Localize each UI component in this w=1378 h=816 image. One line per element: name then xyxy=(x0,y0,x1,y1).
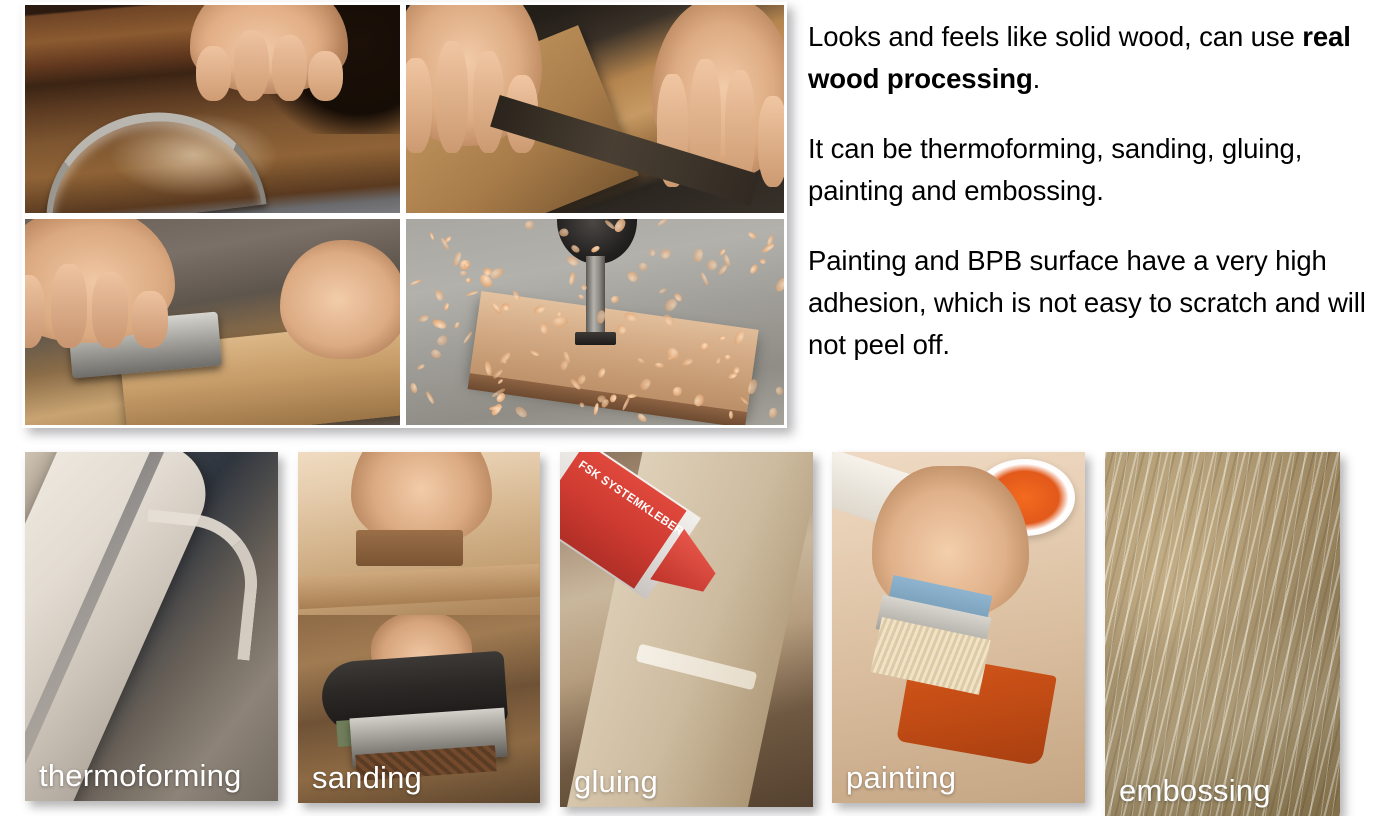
wood-chip xyxy=(454,321,461,329)
wood-chip xyxy=(725,354,731,359)
wood-chip xyxy=(410,279,422,286)
wood-chip xyxy=(673,387,683,396)
wood-chip xyxy=(497,379,504,385)
wood-chips xyxy=(406,219,784,425)
wood-chip xyxy=(610,296,620,305)
wood-chip xyxy=(637,357,646,365)
wood-chip xyxy=(570,244,580,254)
wood-chip xyxy=(729,411,734,420)
wood-chip xyxy=(623,312,638,323)
painting-photo xyxy=(832,452,1085,803)
hand-right-icon xyxy=(652,2,787,180)
wood-chip xyxy=(566,254,580,267)
process-card-embossing[interactable]: embossing xyxy=(1105,452,1340,816)
wood-chip xyxy=(692,248,704,263)
wood-chip xyxy=(717,263,729,275)
wood-chip xyxy=(700,342,710,353)
hand-left-icon xyxy=(22,216,175,343)
wood-chip xyxy=(429,231,435,240)
wood-chip xyxy=(662,312,676,327)
wood-chip xyxy=(657,217,669,227)
wood-chip xyxy=(558,227,569,237)
wood-chip xyxy=(732,330,745,346)
hand-right-icon xyxy=(280,240,403,359)
card-caption-embossing: embossing xyxy=(1119,773,1271,809)
wood-chip xyxy=(608,393,618,403)
wood-chip xyxy=(501,303,511,312)
wood-chip xyxy=(559,360,569,372)
wood-chip xyxy=(612,217,628,234)
wood-chip xyxy=(717,336,725,342)
wood-chip xyxy=(429,348,442,360)
wood-chip xyxy=(759,258,766,265)
wood-chip xyxy=(434,289,444,301)
wood-chip xyxy=(459,270,467,276)
planing-scene xyxy=(25,219,400,425)
paragraph-1: Looks and feels like solid wood, can use… xyxy=(808,16,1374,100)
wood-chip xyxy=(701,272,710,286)
wood-chip xyxy=(715,356,721,364)
wood-chip xyxy=(416,364,425,371)
photo-cell-hand-cutting-board xyxy=(403,2,787,216)
wood-chip xyxy=(465,277,471,283)
feature-text-block: Looks and feels like solid wood, can use… xyxy=(808,16,1374,416)
wood-chip xyxy=(463,331,474,344)
wood-chip xyxy=(591,245,601,254)
sanding-photo-top xyxy=(298,452,540,615)
wood-chip xyxy=(529,349,539,357)
wood-chip xyxy=(533,303,546,314)
hand-icon xyxy=(190,2,348,94)
wood-chip xyxy=(739,395,749,405)
wood-chip xyxy=(431,318,447,331)
wood-chip xyxy=(693,393,706,408)
wood-chip xyxy=(540,323,548,335)
wood-chip xyxy=(658,288,667,295)
wood-chip xyxy=(593,403,600,416)
wood-chip xyxy=(435,334,449,348)
wood-chip xyxy=(638,377,653,392)
wood-chip xyxy=(409,383,417,394)
wood-chip xyxy=(552,316,568,328)
wood-chip xyxy=(749,263,760,275)
wood-chip xyxy=(622,397,632,412)
wood-chip xyxy=(681,358,693,367)
wood-chip xyxy=(580,283,587,291)
wood-chip xyxy=(747,231,757,240)
drilling-scene xyxy=(406,219,784,425)
wood-chip xyxy=(775,386,785,396)
wood-chip xyxy=(596,310,606,324)
gluing-photo: 200 g FSK SYSTEMKLEBER xyxy=(560,452,813,807)
wood-chip xyxy=(485,360,493,375)
wood-chip xyxy=(654,362,664,369)
profile-edge xyxy=(134,509,264,660)
wood-chip xyxy=(746,379,758,395)
sanding-photo xyxy=(298,452,540,803)
circular-saw-scene xyxy=(25,5,400,213)
card-caption-gluing: gluing xyxy=(574,764,658,800)
photo-cell-circular-saw-cutting xyxy=(22,2,403,216)
paragraph-3: Painting and BPB surface have a very hig… xyxy=(808,240,1374,366)
wood-chip xyxy=(769,408,779,419)
paragraph-1-lead: Looks and feels like solid wood, can use xyxy=(808,21,1302,52)
wood-chip xyxy=(773,276,787,293)
embossing-photo xyxy=(1105,452,1340,816)
wood-chip xyxy=(568,271,576,285)
wood-chip xyxy=(514,404,529,419)
process-card-sanding[interactable]: sanding xyxy=(298,452,540,803)
wood-chip xyxy=(443,303,450,312)
wood-chip xyxy=(626,269,640,283)
wood-chip xyxy=(705,258,719,272)
wood-chip xyxy=(425,390,436,405)
wood-chip xyxy=(463,263,469,268)
wood-chip xyxy=(648,249,656,258)
photo-cell-planing-board xyxy=(22,216,403,428)
wood-chip xyxy=(604,220,615,231)
wood-chip xyxy=(659,247,672,260)
wood-chip xyxy=(577,294,585,301)
wood-chip xyxy=(727,372,737,380)
wood-chip xyxy=(579,402,585,409)
wood-chip xyxy=(465,291,479,298)
wood-chip xyxy=(636,412,647,423)
wood-chip xyxy=(512,290,521,302)
hand-left-icon xyxy=(403,2,542,146)
card-caption-thermoforming: thermoforming xyxy=(39,758,241,794)
thermoforming-photo xyxy=(25,452,278,801)
process-card-gluing[interactable]: 200 g FSK SYSTEMKLEBER gluing xyxy=(560,452,813,807)
glue-brand-text: FSK SYSTEMKLEBER xyxy=(576,458,673,529)
photo-grid xyxy=(22,2,787,428)
process-card-painting[interactable]: painting xyxy=(832,452,1085,803)
wood-chip xyxy=(637,261,648,272)
wood-chip xyxy=(525,220,535,229)
process-card-thermoforming[interactable]: thermoforming xyxy=(25,452,278,801)
wood-chip xyxy=(616,324,628,336)
wood-chip xyxy=(418,314,429,323)
paragraph-2: It can be thermoforming, sanding, gluing… xyxy=(808,128,1374,212)
board-cutting-scene xyxy=(406,5,784,213)
paragraph-1-tail: . xyxy=(1033,63,1041,94)
card-caption-painting: painting xyxy=(846,760,956,796)
card-caption-sanding: sanding xyxy=(312,760,422,796)
photo-cell-drilling-board xyxy=(403,216,787,428)
sanding-block-icon xyxy=(356,530,462,566)
slide-root: Looks and feels like solid wood, can use… xyxy=(0,0,1378,816)
wood-chip xyxy=(597,367,607,378)
